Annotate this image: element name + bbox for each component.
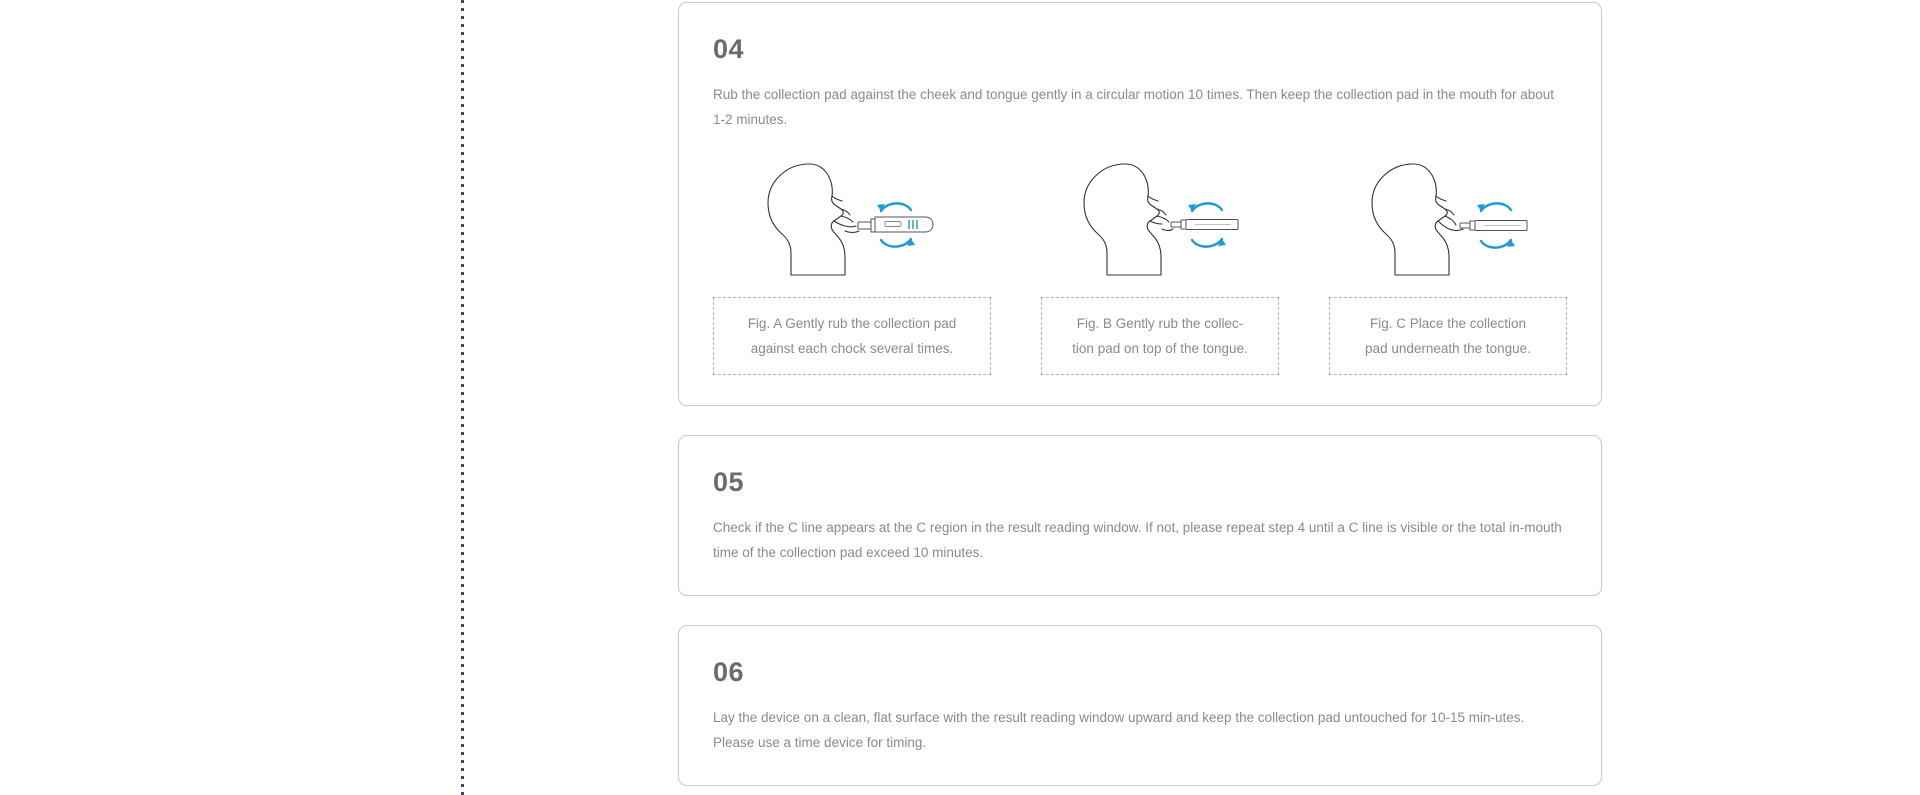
figure-b: Fig. B Gently rub the collec- tion pad o… [1041,159,1279,375]
step-number: 06 [713,659,1567,686]
caption-line: pad underneath the tongue. [1365,336,1531,361]
caption-line: tion pad on top of the tongue. [1072,336,1248,361]
instruction-page: 04 Rub the collection pad against the ch… [0,0,1920,795]
step-card-05: 05 Check if the C line appears at the C … [678,435,1602,596]
step-number: 04 [713,36,1567,63]
caption-line: Fig. B Gently rub the collec- [1072,311,1248,336]
step-card-list: 04 Rub the collection pad against the ch… [678,2,1602,786]
step-description: Check if the C line appears at the C reg… [713,515,1567,565]
caption-line: against each chock several times. [748,336,957,361]
head-profile-with-slim-test-device-icon [1073,159,1248,281]
head-profile-with-slim-test-device-icon [1361,159,1536,281]
caption-line: Fig. C Place the collection [1365,311,1531,336]
figure-c-caption: Fig. C Place the collection pad undernea… [1329,297,1567,375]
step-description: Lay the device on a clean, flat surface … [713,705,1567,755]
step-number: 05 [713,469,1567,496]
figure-a-caption: Fig. A Gently rub the collection pad aga… [713,297,991,375]
dotted-guide-rail [461,0,464,795]
figure-row: Fig. A Gently rub the collection pad aga… [713,159,1567,405]
figure-a: Fig. A Gently rub the collection pad aga… [713,159,991,375]
caption-line: Fig. A Gently rub the collection pad [748,311,957,336]
step-description: Rub the collection pad against the cheek… [713,82,1567,132]
head-profile-with-wide-test-device-icon [757,159,947,281]
step-card-04: 04 Rub the collection pad against the ch… [678,2,1602,406]
step-card-06: 06 Lay the device on a clean, flat surfa… [678,625,1602,786]
figure-b-caption: Fig. B Gently rub the collec- tion pad o… [1041,297,1279,375]
figure-c: Fig. C Place the collection pad undernea… [1329,159,1567,375]
